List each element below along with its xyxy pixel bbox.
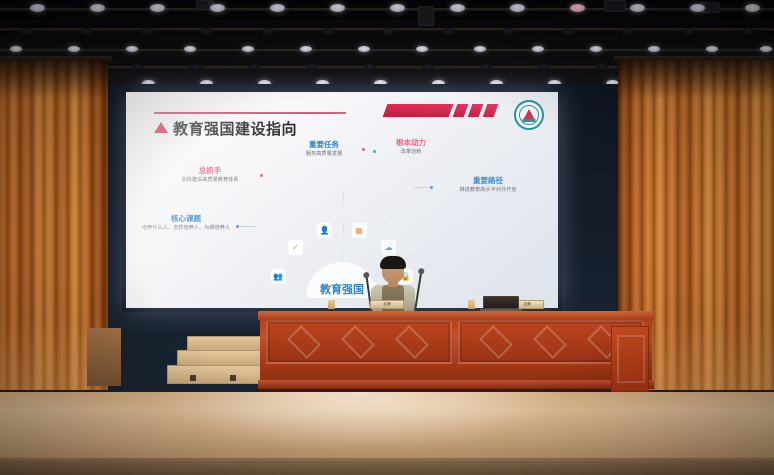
stage-light-icon xyxy=(450,4,465,12)
red-triangle-bullet-icon xyxy=(154,122,168,133)
stage-light-icon xyxy=(590,46,602,52)
stage-light-icon xyxy=(68,46,80,52)
step-notch xyxy=(230,375,236,381)
label-important-task: 重要任务 服务高质量发展 xyxy=(278,140,370,158)
floor-reflection xyxy=(150,392,570,450)
chart-icon: ✓ xyxy=(288,240,303,255)
diamond-carving xyxy=(341,325,375,359)
stage-floor xyxy=(0,392,774,475)
label-dot xyxy=(430,186,433,189)
decor-bar xyxy=(468,104,484,117)
stage-light-icon xyxy=(706,46,718,52)
label-main-handle: 总抓手 加快建设高质量教育体系 xyxy=(164,166,256,184)
people-icon: 👥 xyxy=(271,269,286,284)
stage-light-icon xyxy=(132,64,144,70)
label-dot xyxy=(260,174,263,177)
label-sub: 推进教育高水平对外开放 xyxy=(436,187,540,194)
stage-light-icon xyxy=(306,64,318,70)
stage-light-icon xyxy=(126,46,138,52)
stage-light-icon xyxy=(690,4,705,12)
desk-panel xyxy=(266,320,452,364)
stage-light-icon xyxy=(596,64,608,70)
step-notch xyxy=(190,375,196,381)
stage-light-icon xyxy=(442,28,455,35)
stage-light-icon xyxy=(422,64,434,70)
stage-light-icon xyxy=(262,28,275,35)
stage-light-icon xyxy=(270,4,285,12)
stage-light-icon xyxy=(502,28,515,35)
leader-line xyxy=(239,226,255,227)
slide-title: 教育强国建设指向 xyxy=(173,118,297,139)
laptop-lid xyxy=(483,296,519,309)
step xyxy=(177,350,263,366)
stage-light-icon xyxy=(474,46,486,52)
decor-bar xyxy=(383,104,454,117)
step xyxy=(187,336,263,351)
stage-light-icon xyxy=(300,46,312,52)
diamond-carving xyxy=(479,325,513,359)
label-head: 重要任务 xyxy=(278,140,370,150)
stage-light-icon xyxy=(90,4,105,12)
stage-light-icon xyxy=(358,46,370,52)
fan-hub-label: 教育强国 xyxy=(320,281,364,297)
side-cabinet xyxy=(87,328,121,386)
label-head: 根本动力 xyxy=(368,138,454,148)
stage-light-icon xyxy=(242,46,254,52)
stage-light-icon xyxy=(760,46,772,52)
stage-light-icon xyxy=(210,4,225,12)
pink-spotlight-icon xyxy=(570,4,585,12)
stage-light-icon xyxy=(30,4,45,12)
curtain-shadow xyxy=(0,60,108,100)
auditorium-scene: 教育强国建设指向 教育强国 👥✓👤▦☁🔒 xyxy=(0,0,774,475)
nameplate: 名牌 xyxy=(370,300,404,309)
tea-cup xyxy=(468,300,475,309)
fan-diagram: 教育强国 👥✓👤▦☁🔒 xyxy=(236,188,448,298)
decor-bar xyxy=(453,104,469,117)
label-sub: 服务高质量发展 xyxy=(278,151,370,158)
stage-light-icon xyxy=(742,28,755,35)
label-dot xyxy=(362,148,365,151)
emblem-base-shape xyxy=(523,119,536,122)
laptop xyxy=(480,296,522,312)
step xyxy=(167,365,263,384)
stage-light-icon xyxy=(140,28,153,35)
person-icon: 👤 xyxy=(317,223,332,238)
speaker-hair xyxy=(380,256,406,269)
stage-light-icon xyxy=(622,28,635,35)
emblem-inner xyxy=(519,105,539,125)
stage-light-icon xyxy=(382,28,395,35)
stage-light-icon xyxy=(745,4,760,12)
stage-light-icon xyxy=(330,4,345,12)
stage-light-icon xyxy=(416,46,428,52)
projection-screen: 教育强国建设指向 教育强国 👥✓👤▦☁🔒 xyxy=(126,92,558,308)
desk-base xyxy=(258,380,654,389)
label-sub: 培养什么人、怎样培养人、为谁培养人 xyxy=(140,225,232,232)
stage-light-icon xyxy=(150,4,165,12)
diamond-carving xyxy=(395,325,429,359)
decor-bar xyxy=(483,104,499,117)
side-rostrum xyxy=(611,326,649,392)
building-icon: ▦ xyxy=(352,223,367,238)
stage-light-icon xyxy=(538,64,550,70)
diamond-carving xyxy=(533,325,567,359)
presentation-slide: 教育强国建设指向 教育强国 👥✓👤▦☁🔒 xyxy=(126,92,558,308)
curtain-shadow xyxy=(618,60,774,100)
label-core-topic: 核心课题 培养什么人、怎样培养人、为谁培养人 xyxy=(140,214,232,232)
stage-light-icon xyxy=(562,28,575,35)
stage-light-icon xyxy=(364,64,376,70)
label-fundamental-driver: 根本动力 改革创新 xyxy=(368,138,454,156)
stage-light-icon xyxy=(390,4,405,12)
stage-light-icon xyxy=(190,64,202,70)
stage-light-icon xyxy=(682,28,695,35)
stage-light-icon xyxy=(630,4,645,12)
stage-light-icon xyxy=(10,46,22,52)
title-rule xyxy=(154,112,346,114)
stage-light-icon xyxy=(184,46,196,52)
lighting-truss xyxy=(0,8,774,11)
tea-cup xyxy=(328,300,335,309)
label-head: 重要路径 xyxy=(436,176,540,186)
label-sub: 改革创新 xyxy=(368,149,454,156)
leader-line xyxy=(414,187,429,188)
label-important-path: 重要路径 推进教育高水平对外开放 xyxy=(436,176,540,194)
stage-light-icon xyxy=(80,28,93,35)
label-head: 总抓手 xyxy=(164,166,256,176)
stage-light-icon xyxy=(510,4,525,12)
rig-fixture-box xyxy=(604,0,626,12)
stage-light-icon xyxy=(200,28,213,35)
rig-fixture-box xyxy=(418,6,434,26)
stage-light-icon xyxy=(322,28,335,35)
stage-light-icon xyxy=(648,46,660,52)
conference-desk: 名牌 名牌 xyxy=(258,311,654,389)
label-sub: 加快建设高质量教育体系 xyxy=(164,177,256,184)
stage-light-icon xyxy=(20,28,33,35)
diamond-carving xyxy=(287,325,321,359)
stage-apron xyxy=(0,461,774,475)
stage-steps xyxy=(167,336,263,384)
rostrum-panel xyxy=(617,335,645,383)
decor-bars xyxy=(385,104,496,117)
label-head: 核心课题 xyxy=(140,214,232,224)
stage-light-icon xyxy=(532,46,544,52)
stage-light-icon xyxy=(248,64,260,70)
school-emblem-icon xyxy=(514,100,544,130)
stage-light-icon xyxy=(480,64,492,70)
cloud-icon: ☁ xyxy=(381,240,396,255)
